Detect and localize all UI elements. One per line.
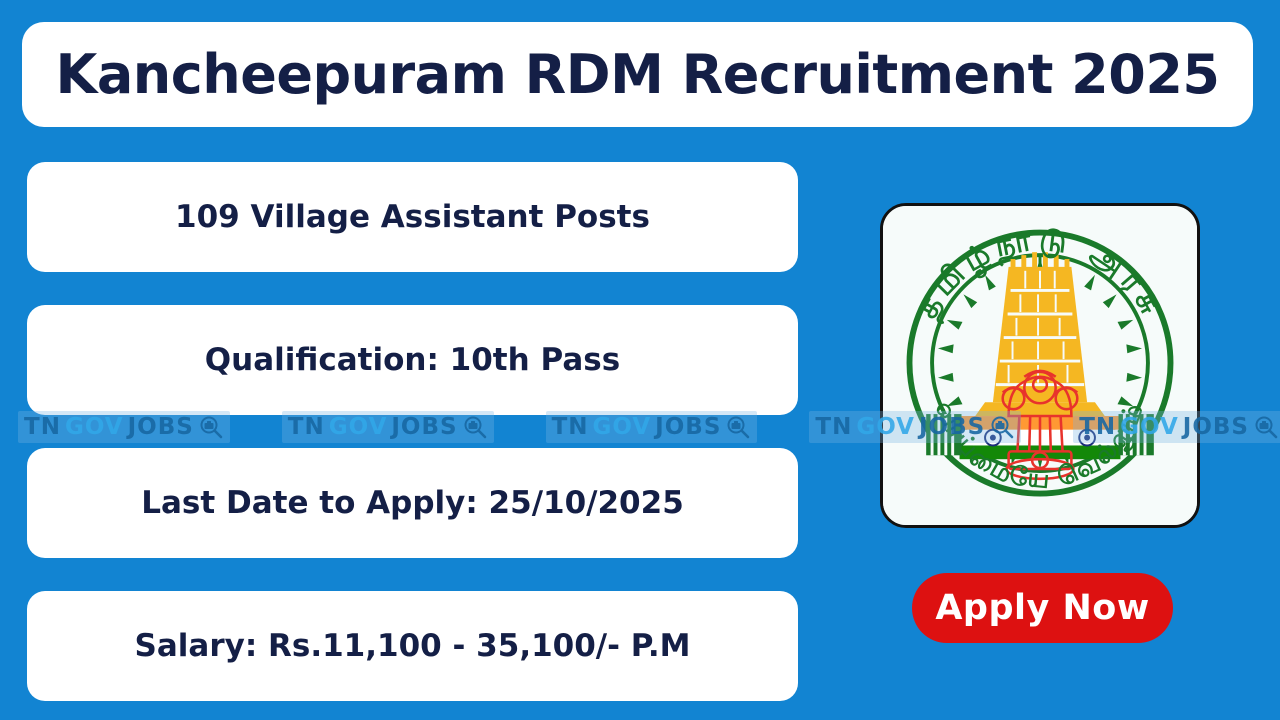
recruitment-poster: Kancheepuram RDM Recruitment 2025 109 Vi… xyxy=(0,0,1280,720)
title-card: Kancheepuram RDM Recruitment 2025 xyxy=(22,22,1253,127)
info-card-qualification-label: Qualification: 10th Pass xyxy=(205,342,620,378)
info-card-posts-label: 109 Village Assistant Posts xyxy=(175,199,650,235)
apply-now-button[interactable]: Apply Now xyxy=(912,573,1173,643)
info-card-salary: Salary: Rs.11,100 - 35,100/- P.M xyxy=(27,591,798,701)
watermark-tn: TN xyxy=(815,414,852,440)
tamil-nadu-emblem-card: தமிழ்நாடு அரசு வாய்மையே வெல்லும் xyxy=(880,203,1200,528)
info-card-list: 109 Village Assistant Posts Qualificatio… xyxy=(27,162,798,690)
info-card-qualification: Qualification: 10th Pass xyxy=(27,305,798,415)
info-card-posts: 109 Village Assistant Posts xyxy=(27,162,798,272)
magnifier-briefcase-icon xyxy=(1253,414,1279,440)
apply-now-button-label: Apply Now xyxy=(935,588,1149,628)
tamil-nadu-government-emblem-icon: தமிழ்நாடு அரசு வாய்மையே வெல்லும் xyxy=(883,206,1197,525)
page-title: Kancheepuram RDM Recruitment 2025 xyxy=(56,43,1220,106)
info-card-last-date: Last Date to Apply: 25/10/2025 xyxy=(27,448,798,558)
info-card-last-date-label: Last Date to Apply: 25/10/2025 xyxy=(141,485,684,521)
info-card-salary-label: Salary: Rs.11,100 - 35,100/- P.M xyxy=(135,628,691,664)
